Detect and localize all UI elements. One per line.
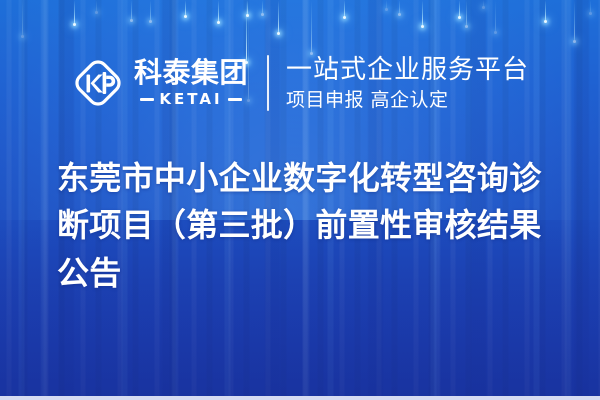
light-particle	[247, 0, 248, 15]
light-particle	[495, 0, 496, 32]
title-line: 断项目（第三批）前置性审核结果	[57, 202, 557, 249]
light-particle	[574, 0, 575, 41]
light-particle	[218, 0, 219, 22]
light-particle	[344, 0, 345, 17]
light-particle	[131, 0, 132, 20]
brand-name-cn: 科泰集团	[134, 59, 248, 87]
light-particle	[96, 0, 97, 12]
title-line: 东莞市中小企业数字化转型咨询诊	[57, 155, 557, 202]
brand-name-en: KETAI	[159, 92, 222, 107]
light-particle	[545, 0, 546, 21]
light-particle	[278, 0, 279, 33]
left-dash-decoration	[140, 98, 154, 101]
light-particle	[74, 0, 75, 24]
title-line: 公告	[57, 250, 557, 297]
announcement-title: 东莞市中小企业数字化转型咨询诊 断项目（第三批）前置性审核结果 公告	[57, 155, 557, 297]
brand-logo: 科泰集团 KETAI	[71, 56, 248, 110]
ketai-diamond-kp-logo-icon	[71, 56, 125, 110]
brand-name-en-row: KETAI	[134, 92, 248, 107]
light-particle	[422, 0, 423, 26]
slogan-block: 一站式企业服务平台 项目申报 高企认定	[286, 56, 529, 111]
light-particle	[459, 0, 460, 17]
banner-header: 科泰集团 KETAI 一站式企业服务平台 项目申报 高企认定	[0, 48, 600, 118]
light-particle	[483, 0, 484, 7]
light-particle	[262, 0, 263, 14]
light-particle	[399, 0, 400, 14]
light-particle	[22, 0, 23, 36]
vertical-divider	[267, 55, 269, 111]
right-dash-decoration	[228, 98, 242, 101]
light-particle	[590, 0, 591, 13]
bottom-accent-strip	[0, 396, 600, 400]
slogan-primary: 一站式企业服务平台	[286, 56, 529, 84]
light-particle	[311, 0, 312, 53]
light-particle	[150, 0, 151, 21]
light-particle	[386, 0, 387, 9]
brand-wordmark: 科泰集团 KETAI	[134, 59, 248, 107]
light-particle	[185, 0, 186, 16]
slogan-secondary: 项目申报 高企认定	[286, 90, 529, 111]
promo-banner: 科泰集团 KETAI 一站式企业服务平台 项目申报 高企认定 东莞市中小企业数字…	[0, 0, 600, 400]
light-particle	[466, 0, 467, 26]
